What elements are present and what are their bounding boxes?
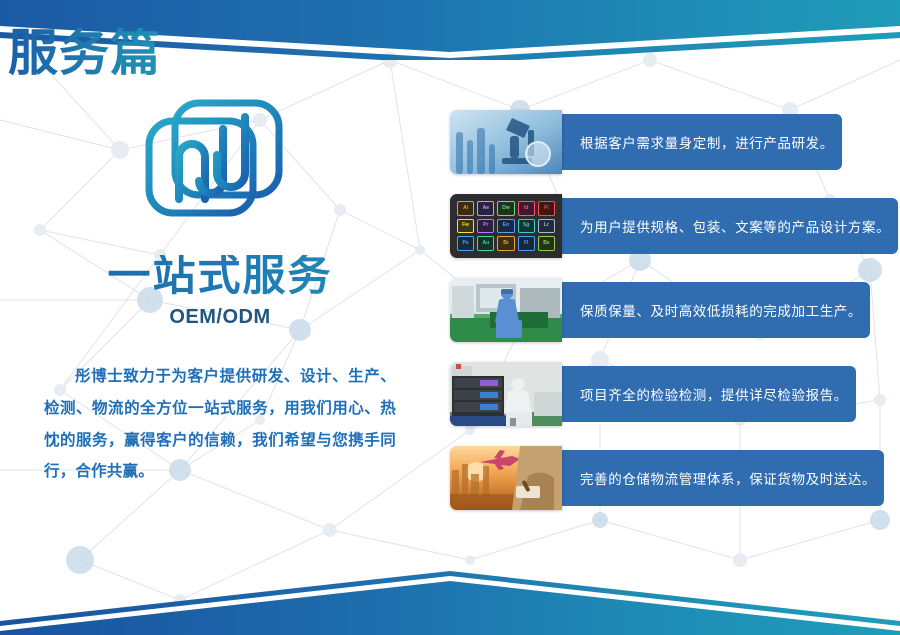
poster-page: 服务篇 一站式服 bbox=[0, 0, 900, 635]
service-row-5[interactable]: 完善的仓储物流管理体系，保证货物及时送达。 bbox=[450, 446, 815, 510]
page-title: 服务篇 bbox=[8, 28, 161, 78]
au-monogram-logo bbox=[135, 95, 305, 227]
cc-app-icon-fw-5: Fw bbox=[457, 219, 474, 234]
cc-app-icon-sg-8: Sg bbox=[518, 219, 535, 234]
service-row-2[interactable]: AiAeDwIdFlFwPrEnSgLrPsAuBrFlBs 为用户提供规格、包… bbox=[450, 194, 815, 258]
left-column: 一站式服务 OEM/ODM 彤博士致力于为客户提供研发、设计、生产、检测、物流的… bbox=[0, 95, 440, 488]
bottom-chevron-band bbox=[0, 525, 900, 635]
service-text-2: 为用户提供规格、包装、文案等的产品设计方案。 bbox=[580, 216, 890, 236]
cc-app-icon-br-12: Br bbox=[497, 236, 514, 251]
service-row-3[interactable]: 保质保量、及时高效低损耗的完成加工生产。 bbox=[450, 278, 815, 342]
body-paragraph: 彤博士致力于为客户提供研发、设计、生产、检测、物流的全方位一站式服务，用我们用心… bbox=[44, 361, 396, 488]
cc-app-icon-ps-10: Ps bbox=[457, 236, 474, 251]
service-text-4: 项目齐全的检验检测，提供详尽检验报告。 bbox=[580, 384, 848, 404]
service-row-4[interactable]: 项目齐全的检验检测，提供详尽检验报告。 bbox=[450, 362, 815, 426]
cc-app-icon-pr-6: Pr bbox=[477, 219, 494, 234]
service-row-1[interactable]: 根据客户需求量身定制，进行产品研发。 bbox=[450, 110, 815, 174]
air-freight-logistics-photo bbox=[450, 446, 562, 510]
service-text-3: 保质保量、及时高效低损耗的完成加工生产。 bbox=[580, 300, 862, 320]
service-list: 根据客户需求量身定制，进行产品研发。 AiAeDwIdFlFwPrEnSgLrP… bbox=[450, 110, 815, 530]
cc-app-icon-bs-14: Bs bbox=[538, 236, 555, 251]
service-bar-1: 根据客户需求量身定制，进行产品研发。 bbox=[558, 114, 842, 170]
cleanroom-production-photo bbox=[450, 278, 562, 342]
cc-app-icon-lr-9: Lr bbox=[538, 219, 555, 234]
cc-app-icon-fl-13: Fl bbox=[518, 236, 535, 251]
cc-grid: AiAeDwIdFlFwPrEnSgLrPsAuBrFlBs bbox=[450, 194, 562, 258]
service-bar-3: 保质保量、及时高效低损耗的完成加工生产。 bbox=[558, 282, 870, 338]
adobe-cc-app-grid: AiAeDwIdFlFwPrEnSgLrPsAuBrFlBs bbox=[450, 194, 562, 258]
cc-app-icon-en-7: En bbox=[497, 219, 514, 234]
cc-app-icon-ae-1: Ae bbox=[477, 201, 494, 216]
service-bar-5: 完善的仓储物流管理体系，保证货物及时送达。 bbox=[558, 450, 884, 506]
cc-app-icon-id-3: Id bbox=[518, 201, 535, 216]
service-bar-2: 为用户提供规格、包装、文案等的产品设计方案。 bbox=[558, 198, 898, 254]
cc-app-icon-au-11: Au bbox=[477, 236, 494, 251]
cc-app-icon-dw-2: Dw bbox=[497, 201, 514, 216]
headline: 一站式服务 bbox=[0, 255, 440, 298]
lab-inspection-equipment-photo bbox=[450, 362, 562, 426]
service-bar-4: 项目齐全的检验检测，提供详尽检验报告。 bbox=[558, 366, 856, 422]
lab-microscope-photo bbox=[450, 110, 562, 174]
cc-app-icon-fl-4: Fl bbox=[538, 201, 555, 216]
cc-app-icon-ai-0: Ai bbox=[457, 201, 474, 216]
subheadline: OEM/ODM bbox=[0, 306, 440, 329]
service-text-5: 完善的仓储物流管理体系，保证货物及时送达。 bbox=[580, 468, 876, 488]
service-text-1: 根据客户需求量身定制，进行产品研发。 bbox=[580, 132, 834, 152]
